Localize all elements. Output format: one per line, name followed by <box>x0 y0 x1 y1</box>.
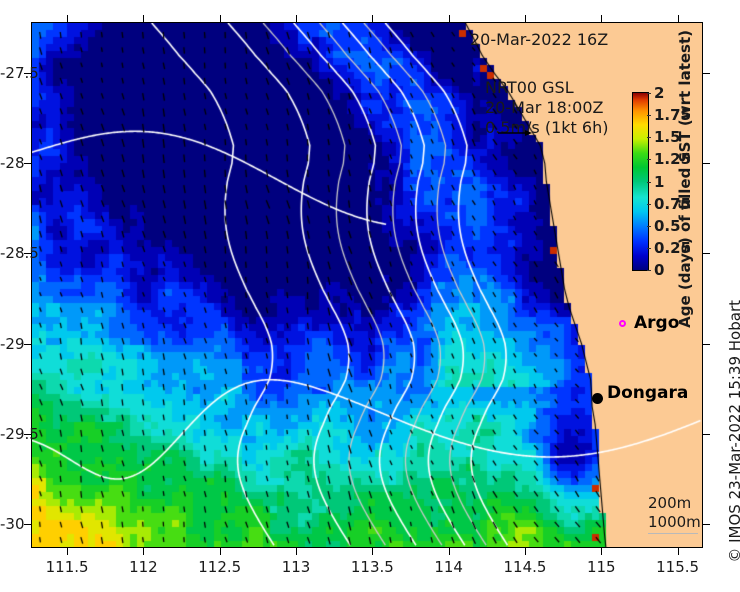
x-axis-label: 113.5 <box>351 558 394 576</box>
x-axis-tick-top <box>67 15 68 22</box>
y-axis-tick-right <box>703 163 710 164</box>
source-time-label: 20-Mar 18:00Z <box>485 98 608 118</box>
figure-root: 20-Mar-2022 16Z NRT00 GSL 20-Mar 18:00Z … <box>0 0 740 592</box>
x-axis-tick-top <box>220 15 221 22</box>
colorbar-title: Age (days) of filled SST (wrt latest) <box>676 30 694 328</box>
isobath-legend-rule <box>648 533 698 534</box>
x-axis-tick <box>678 548 679 555</box>
colorbar-tick <box>647 93 651 94</box>
colorbar-tick <box>647 137 651 138</box>
date-stamp-label: 20-Mar-2022 16Z <box>470 30 608 49</box>
source-model-label: NRT00 GSL <box>485 78 608 98</box>
colorbar: 21.751.51.2510.750.50.250 <box>632 92 649 271</box>
x-axis-tick-top <box>525 15 526 22</box>
credit-label: © IMOS 23-Mar-2022 15:39 Hobart <box>726 300 740 563</box>
y-axis-tick <box>24 344 31 345</box>
x-axis-tick <box>525 548 526 555</box>
x-axis-tick <box>449 548 450 555</box>
y-axis-tick <box>24 524 31 525</box>
y-axis-tick-right <box>703 253 710 254</box>
reference-vector-arrow-icon <box>498 128 532 138</box>
x-axis-label: 112.5 <box>198 558 241 576</box>
colorbar-tick-label: 1 <box>654 173 664 191</box>
argo-label: Argo <box>634 313 679 333</box>
isobath-legend: 200m 1000m <box>648 494 701 532</box>
colorbar-gradient <box>633 93 648 270</box>
x-axis-tick-top <box>143 15 144 22</box>
colorbar-tick <box>647 204 651 205</box>
x-axis-tick <box>67 548 68 555</box>
x-axis-label: 114.5 <box>503 558 546 576</box>
y-axis-tick-right <box>703 73 710 74</box>
x-axis-label: 111.5 <box>46 558 89 576</box>
x-axis-label: 115 <box>587 558 616 576</box>
dongara-label: Dongara <box>607 383 688 403</box>
colorbar-tick <box>647 182 651 183</box>
y-axis-label: -28 <box>0 154 21 172</box>
isobath-200m-label: 200m <box>648 494 701 513</box>
x-axis-label: 113 <box>282 558 311 576</box>
x-axis-label: 115.5 <box>656 558 699 576</box>
argo-marker-icon[interactable] <box>619 320 626 327</box>
isobath-1000m-label: 1000m <box>648 513 701 532</box>
colorbar-tick-label: 0 <box>654 261 664 279</box>
x-axis-tick-top <box>296 15 297 22</box>
x-axis-tick <box>143 548 144 555</box>
y-axis-label: -29 <box>0 335 21 353</box>
colorbar-tick <box>647 226 651 227</box>
x-axis-label: 112 <box>129 558 158 576</box>
y-axis-tick-right <box>703 434 710 435</box>
y-axis-label: -30 <box>0 515 21 533</box>
x-axis-tick-top <box>449 15 450 22</box>
x-axis-tick-top <box>372 15 373 22</box>
colorbar-tick <box>647 270 651 271</box>
x-axis-tick-top <box>678 15 679 22</box>
colorbar-tick-label: 2 <box>654 84 664 102</box>
colorbar-tick <box>647 115 651 116</box>
y-axis-tick-right <box>703 524 710 525</box>
x-axis-tick <box>296 548 297 555</box>
y-axis-tick-right <box>703 344 710 345</box>
x-axis-tick-top <box>601 15 602 22</box>
y-axis-tick <box>24 163 31 164</box>
y-axis-label: -27.5 <box>0 64 21 82</box>
x-axis-tick <box>601 548 602 555</box>
colorbar-tick <box>647 159 651 160</box>
x-axis-tick <box>220 548 221 555</box>
y-axis-label: -29.5 <box>0 425 21 443</box>
y-axis-label: -28.5 <box>0 244 21 262</box>
x-axis-label: 114 <box>434 558 463 576</box>
x-axis-tick <box>372 548 373 555</box>
colorbar-tick <box>647 248 651 249</box>
dongara-marker-icon[interactable] <box>592 393 603 404</box>
